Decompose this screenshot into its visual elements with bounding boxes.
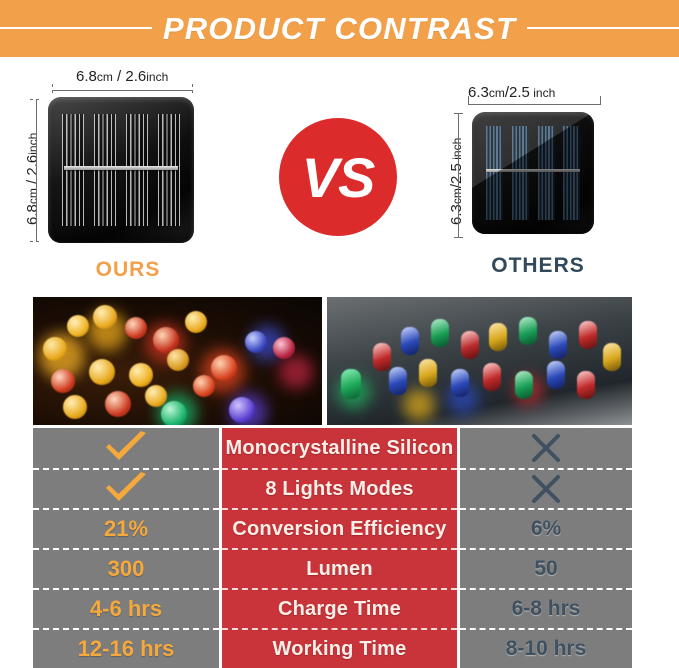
table-row: Conversion Efficiency xyxy=(222,508,457,548)
others-width-inch-value: 2.5 xyxy=(509,84,530,101)
ours-height-inch-unit: inch xyxy=(26,133,40,155)
solar-busbar-others xyxy=(486,169,580,172)
ours-width-tick-right xyxy=(192,84,193,95)
others-height-separator: / xyxy=(448,184,465,188)
table-row: 12-16 hrs xyxy=(33,628,219,668)
table-column-features: Monocrystalline Silicon8 Lights ModesCon… xyxy=(222,428,457,668)
table-column-others: 6%506-8 hrs8-10 hrs xyxy=(460,428,632,668)
led-lights-photo-ours xyxy=(33,297,322,425)
feature-label: Lumen xyxy=(306,558,373,581)
header-banner: PRODUCT CONTRAST xyxy=(0,0,679,57)
ours-width-tick-left xyxy=(52,84,53,95)
ours-width-inch-value: 2.6 xyxy=(125,68,146,85)
table-row: 6% xyxy=(460,508,632,548)
others-height-measure-line xyxy=(458,113,459,237)
checkmark-icon xyxy=(33,428,219,468)
page-title: PRODUCT CONTRAST xyxy=(0,0,679,57)
ours-height-inch-value: 2.6 xyxy=(24,155,41,176)
others-height-tick-bottom xyxy=(454,237,463,238)
others-height-inch-value: 2.5 xyxy=(448,163,465,184)
others-value: 50 xyxy=(534,557,557,581)
cross-icon xyxy=(460,428,632,468)
table-row: Lumen xyxy=(222,548,457,588)
others-width-tick-right xyxy=(600,96,601,105)
others-width-inch-unit: inch xyxy=(530,86,555,100)
solar-busbar-ours xyxy=(64,166,178,170)
table-row: 4-6 hrs xyxy=(33,588,219,628)
others-value: 6% xyxy=(531,517,561,541)
table-row: 21% xyxy=(33,508,219,548)
ours-value: 300 xyxy=(108,556,145,582)
photo-strip xyxy=(33,297,632,425)
ours-label: OURS xyxy=(62,258,194,282)
ours-width-measure-line xyxy=(52,90,192,91)
ours-value: 4-6 hrs xyxy=(90,596,162,622)
ours-height-tick-top xyxy=(30,99,41,100)
vs-badge: VS xyxy=(279,118,397,236)
feature-label: Charge Time xyxy=(278,598,401,621)
table-row: 300 xyxy=(33,548,219,588)
others-width-tick-left xyxy=(468,96,469,105)
ours-height-cm-value: 6.8 xyxy=(24,204,41,225)
ours-width-separator: / xyxy=(113,68,126,85)
table-row: Monocrystalline Silicon xyxy=(222,428,457,468)
ours-width-inch-unit: inch xyxy=(146,70,168,84)
solar-cells-others xyxy=(486,126,580,220)
feature-label: 8 Lights Modes xyxy=(265,478,413,501)
others-height-cm-value: 6.3 xyxy=(448,204,465,225)
table-row: 50 xyxy=(460,548,632,588)
others-width-cm-unit: cm xyxy=(489,86,505,100)
others-height-dimension-label: 6.3cm/2.5 inch xyxy=(448,138,465,225)
others-height-cm-unit: cm xyxy=(450,188,464,204)
feature-label: Monocrystalline Silicon xyxy=(226,437,454,460)
table-row: 8-10 hrs xyxy=(460,628,632,668)
others-width-dimension-label: 6.3cm/2.5 inch xyxy=(468,84,555,101)
table-row: Working Time xyxy=(222,628,457,668)
others-width-measure-line xyxy=(468,104,600,105)
others-value: 8-10 hrs xyxy=(506,637,587,661)
table-column-ours: 21%3004-6 hrs12-16 hrs xyxy=(33,428,219,668)
ours-value: 21% xyxy=(104,516,148,542)
others-value: 6-8 hrs xyxy=(512,597,581,621)
others-width-cm-value: 6.3 xyxy=(468,84,489,101)
others-height-tick-top xyxy=(454,113,463,114)
table-row: 6-8 hrs xyxy=(460,588,632,628)
ours-height-dimension-label: 6.8cm / 2.6inch xyxy=(24,133,41,225)
led-lights-photo-others xyxy=(327,297,632,425)
solar-cells-ours xyxy=(62,114,180,226)
ours-height-tick-bottom xyxy=(30,241,41,242)
comparison-table: 21%3004-6 hrs12-16 hrs Monocrystalline S… xyxy=(33,428,632,668)
table-row: Charge Time xyxy=(222,588,457,628)
feature-label: Conversion Efficiency xyxy=(232,518,446,541)
solar-panel-ours-image xyxy=(48,97,194,243)
ours-width-cm-value: 6.8 xyxy=(76,68,97,85)
ours-height-separator: / xyxy=(24,176,41,189)
cross-icon xyxy=(460,468,632,508)
feature-label: Working Time xyxy=(273,638,407,661)
vs-badge-label: VS xyxy=(302,145,375,210)
table-row: 8 Lights Modes xyxy=(222,468,457,508)
ours-width-cm-unit: cm xyxy=(97,70,113,84)
solar-panel-others-image xyxy=(472,112,594,234)
others-height-inch-unit: inch xyxy=(450,138,464,163)
ours-width-dimension-label: 6.8cm / 2.6inch xyxy=(76,68,168,85)
checkmark-icon xyxy=(33,468,219,508)
others-label: OTHERS xyxy=(472,254,604,278)
ours-height-cm-unit: cm xyxy=(26,188,40,204)
ours-height-measure-line xyxy=(36,99,37,241)
ours-value: 12-16 hrs xyxy=(78,636,175,662)
